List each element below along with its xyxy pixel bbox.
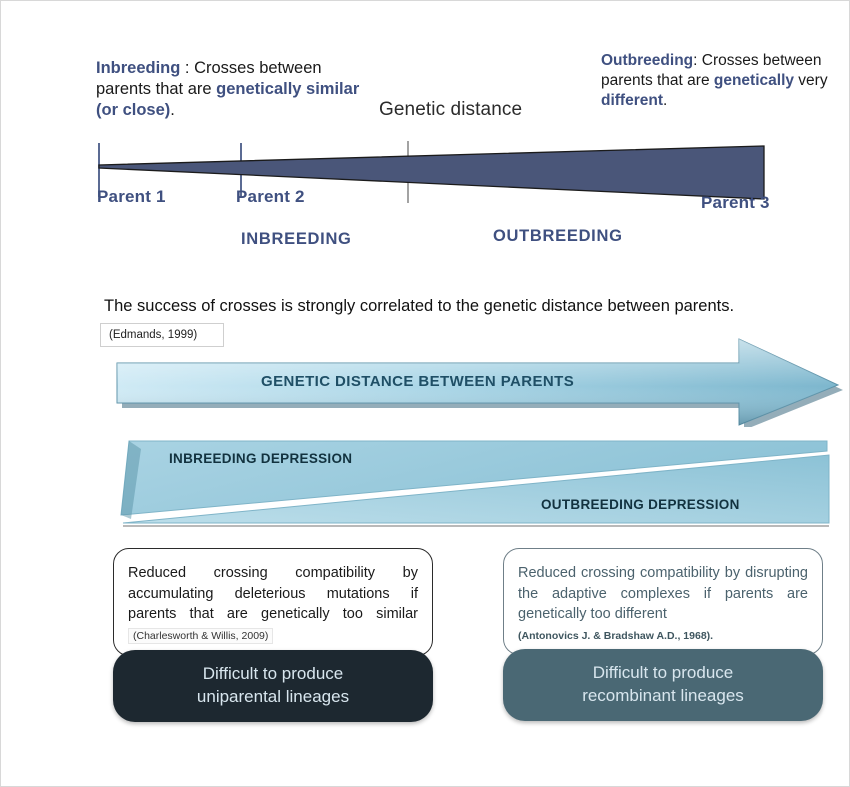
outcome-right-body: Reduced crossing compatibility by disrup… [518,565,808,622]
label-outbreeding-region: OUTBREEDING [493,227,623,246]
label-parent-2: Parent 2 [236,187,305,207]
outbreeding-caption: Outbreeding: Crosses between parents tha… [601,51,846,110]
pill-left-line1: Difficult to produce [203,664,343,683]
genetic-distance-axis-label: Genetic distance [379,99,522,121]
outcome-left-pill-text: Difficult to produce uniparental lineage… [197,663,349,709]
label-parent-3: Parent 3 [701,193,770,213]
label-outbreeding-depression: OUTBREEDING DEPRESSION [541,497,740,512]
inbreeding-caption-tail: . [170,101,175,119]
depression-svg [101,429,841,537]
outcome-left-body: Reduced crossing compatibility by accumu… [128,565,418,622]
outcome-right-card: Reduced crossing compatibility by disrup… [503,548,823,655]
citation-charlesworth: (Charlesworth & Willis, 2009) [128,628,273,644]
pill-right-line2: recombinant lineages [582,686,744,705]
outbreeding-caption-mid2: very [794,72,828,89]
outbreeding-caption-bold3: different [601,92,663,109]
label-inbreeding-depression: INBREEDING DEPRESSION [169,451,352,466]
pill-left-line2: uniparental lineages [197,687,349,706]
pill-right-line1: Difficult to produce [593,663,733,682]
wedge-shape [99,146,764,199]
outcome-right-pill-text: Difficult to produce recombinant lineage… [582,662,744,708]
outcome-right-pill: Difficult to produce recombinant lineage… [503,649,823,721]
inbreeding-keyword: Inbreeding [96,59,180,77]
outbreeding-caption-bold2: genetically [714,72,794,89]
outcome-left-pill: Difficult to produce uniparental lineage… [113,650,433,722]
label-inbreeding-region: INBREEDING [241,230,352,249]
label-parent-1: Parent 1 [97,187,166,207]
citation-antonovics: (Antonovics J. & Bradshaw A.D., 1968). [518,629,808,644]
outcome-left-card: Reduced crossing compatibility by accumu… [113,548,433,656]
outcome-outbreeding: Reduced crossing compatibility by disrup… [503,548,823,721]
inbreeding-caption: Inbreeding : Crosses between parents tha… [96,58,381,121]
outcome-inbreeding: Reduced crossing compatibility by accumu… [113,548,433,722]
outbreeding-caption-tail: . [663,92,667,109]
genetic-distance-wedge [96,141,796,211]
diagram-canvas: Inbreeding : Crosses between parents tha… [0,0,850,787]
wedge-svg [96,141,796,211]
outcome-right-text: Reduced crossing compatibility by disrup… [518,563,808,644]
statement-text: The success of crosses is strongly corre… [104,297,834,316]
outbreeding-keyword: Outbreeding [601,52,693,69]
depression-band [101,429,841,537]
arrow-label: GENETIC DISTANCE BETWEEN PARENTS [261,373,574,390]
outcome-left-text: Reduced crossing compatibility by accumu… [128,563,418,645]
